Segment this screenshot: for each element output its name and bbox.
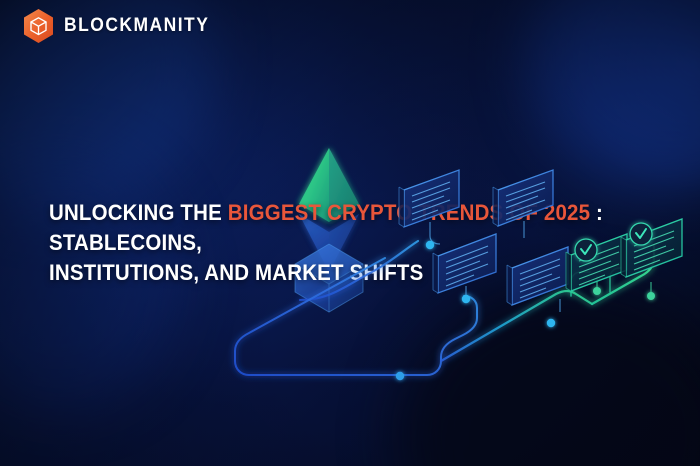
glow-top-right	[530, 0, 700, 190]
glow-bottom-right	[400, 286, 700, 466]
hexagon-cube-icon	[22, 8, 55, 44]
dot-5	[547, 319, 555, 327]
dot-1	[462, 295, 470, 303]
headline-line1-accent: BIGGEST CRYPTO TRENDS OF 2025	[228, 200, 590, 225]
dot-7	[647, 292, 655, 300]
dot-6	[593, 287, 601, 295]
promo-banner: UNLOCKING THE BIGGEST CRYPTO TRENDS OF 2…	[0, 0, 700, 466]
dot-4	[396, 372, 404, 380]
brand-name: BLOCKMANITY	[64, 15, 209, 37]
headline-line2: INSTITUTIONS, AND MARKET SHIFTS	[49, 260, 423, 285]
headline: UNLOCKING THE BIGGEST CRYPTO TRENDS OF 2…	[49, 198, 607, 288]
connector-mix-diagonal	[441, 291, 592, 361]
headline-line1-prefix: UNLOCKING THE	[49, 200, 228, 225]
check-badge-icon	[630, 223, 652, 245]
card-6-lines	[634, 231, 674, 270]
node-card-6	[621, 219, 682, 277]
brand-logo[interactable]: BLOCKMANITY	[22, 8, 222, 44]
